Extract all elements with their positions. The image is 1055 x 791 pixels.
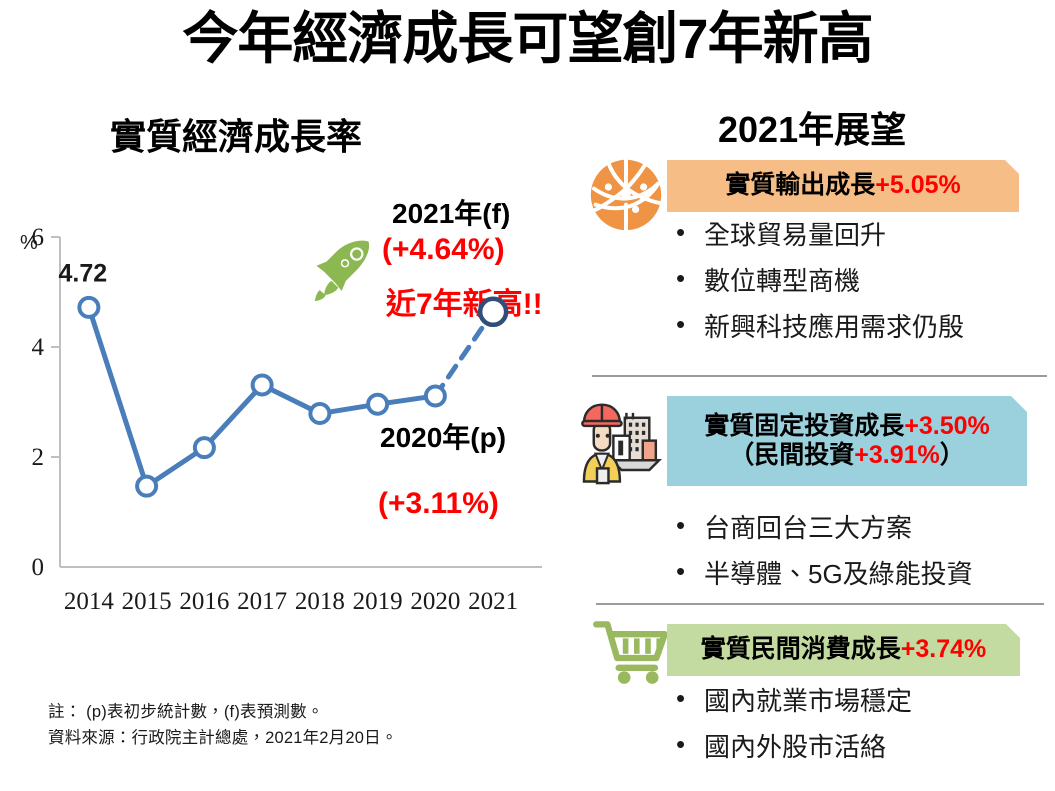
shopping-cart-icon [592,617,676,685]
footnote: 註： (p)表初步統計數，(f)表預測數。 資料來源：行政院主計總處，2021年… [48,700,398,751]
chart-title: 實質經濟成長率 [110,108,362,160]
banner-consumption-label: 實質民間消費成長 [701,635,901,665]
footnote-line-2: 資料來源：行政院主計總處，2021年2月20日。 [48,726,398,752]
svg-text:2021: 2021 [468,588,518,615]
list-item: 全球貿易量回升 [672,222,964,248]
svg-text:6: 6 [32,225,45,251]
line-chart: 0246201420152016201720182019202020214.72 [0,225,570,655]
list-item: 半導體、5G及綠能投資 [672,561,973,587]
banner-private-investment-label: （民間投資 [729,441,854,469]
section-divider-1 [592,375,1047,377]
svg-text:2016: 2016 [179,588,229,615]
outlook-title: 2021年展望 [718,101,906,153]
footnote-line-1: 註： (p)表初步統計數，(f)表預測數。 [48,700,398,726]
banner-investment-label: 實質固定投資成長 [704,412,904,440]
svg-text:2020: 2020 [410,588,460,615]
bullet-list-consumption: 國內就業市場穩定 國內外股市活絡 [672,688,912,780]
banner-investment-line-2: （民間投資+3.91%） [729,441,965,471]
svg-text:2018: 2018 [295,588,345,615]
list-item: 台商回台三大方案 [672,515,973,541]
banner-investment-line-1: 實質固定投資成長+3.50% [704,412,990,442]
bullet-list-export: 全球貿易量回升 數位轉型商機 新興科技應用需求仍殷 [672,222,964,360]
svg-text:2015: 2015 [122,588,172,615]
infographic-root: 今年經濟成長可望創7年新高 實質經濟成長率 % 2021年(f) (+4.64%… [0,0,1055,791]
svg-text:2014: 2014 [64,588,115,615]
banner-investment-paren: ） [940,441,965,469]
banner-export-value: +5.05% [875,171,961,201]
banner-consumption-growth: 實質民間消費成長+3.74% [667,624,1020,676]
svg-text:2019: 2019 [353,588,403,615]
banner-investment-value: +3.50% [904,412,990,440]
list-item: 國內就業市場穩定 [672,688,912,714]
page-title: 今年經濟成長可望創7年新高 [0,8,1055,70]
banner-export-growth: 實質輸出成長+5.05% [667,160,1019,212]
bullet-list-investment: 台商回台三大方案 半導體、5G及綠能投資 [672,515,973,607]
globe-network-icon [586,155,666,235]
svg-text:4.72: 4.72 [59,259,108,287]
list-item: 數位轉型商機 [672,268,964,294]
banner-consumption-value: +3.74% [901,635,987,665]
list-item: 國內外股市活絡 [672,734,912,760]
list-item: 新興科技應用需求仍殷 [672,314,964,340]
construction-worker-icon [566,390,664,488]
banner-export-label: 實質輸出成長 [725,171,875,201]
banner-investment-growth: 實質固定投資成長+3.50% （民間投資+3.91%） [667,396,1027,486]
svg-text:2017: 2017 [237,588,287,615]
svg-text:2: 2 [32,444,45,471]
banner-private-investment-value: +3.91% [854,441,940,469]
svg-text:4: 4 [32,334,45,361]
svg-text:0: 0 [32,554,45,581]
